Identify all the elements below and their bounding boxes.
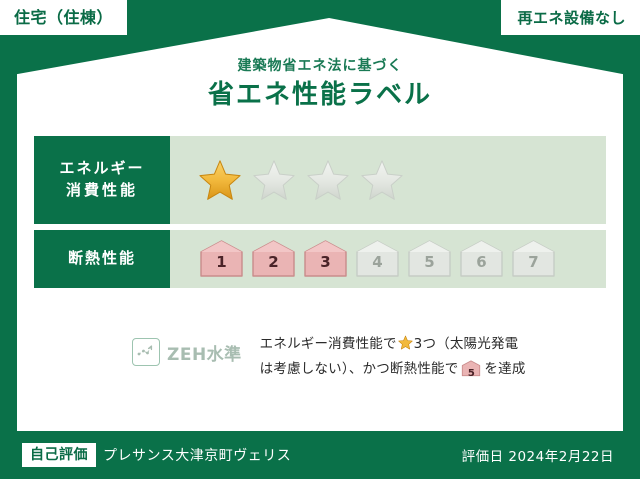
- insulation-grade-3-number: 3: [320, 255, 330, 279]
- house-badge-inline-number: 5: [468, 368, 475, 379]
- label-title-block: 建築物省エネ法に基づく 省エネ性能ラベル: [0, 58, 640, 111]
- insulation-grade-scale: 1 2 3: [198, 239, 562, 279]
- insulation-grade-6: 6: [458, 239, 505, 279]
- insulation-grade-4-number: 4: [372, 255, 382, 279]
- insulation-grade-1: 1: [198, 239, 245, 279]
- house-badge-icon-inline: 5: [460, 360, 482, 375]
- row-insulation-grades: 1 2 3: [170, 230, 606, 288]
- insulation-grade-3: 3: [302, 239, 349, 279]
- star-icon-inline: [398, 335, 413, 350]
- insulation-grade-4: 4: [354, 239, 401, 279]
- insulation-grade-5: 5: [406, 239, 453, 279]
- insulation-grade-2: 2: [250, 239, 297, 279]
- row-insulation-performance: 断熱性能 1: [34, 230, 606, 288]
- tag-renewable-energy-text: 再エネ設備なし: [517, 9, 626, 27]
- tag-building-type: 住宅（住棟）: [0, 0, 127, 35]
- tag-building-type-text: 住宅（住棟）: [14, 8, 113, 27]
- star-icon-empty-2: [252, 159, 296, 201]
- zeh-note-block: ZEH水準 エネルギー消費性能で3つ（太陽光発電 は考慮しない）、かつ断熱性能で…: [34, 330, 606, 382]
- row-energy-label-line1: エネルギー: [59, 158, 144, 180]
- label-subtitle: 建築物省エネ法に基づく: [0, 58, 640, 75]
- insulation-grade-2-number: 2: [268, 255, 278, 279]
- star-icon-filled-1: [198, 159, 242, 201]
- tag-renewable-energy: 再エネ設備なし: [501, 0, 640, 35]
- star-icon-empty-3: [306, 159, 350, 201]
- row-energy-performance: エネルギー 消費性能: [34, 136, 606, 224]
- evaluation-date: 評価日 2024年2月22日: [462, 445, 614, 465]
- row-energy-stars: [170, 136, 606, 224]
- zeh-chart-icon: [132, 338, 160, 366]
- row-energy-label-line2: 消費性能: [66, 180, 138, 202]
- insulation-grade-6-number: 6: [476, 255, 486, 279]
- insulation-grade-5-number: 5: [424, 255, 434, 279]
- row-insulation-label-text: 断熱性能: [68, 248, 136, 270]
- insulation-grade-7-number: 7: [528, 255, 538, 279]
- row-energy-label: エネルギー 消費性能: [34, 136, 170, 224]
- footer-left-group: 自己評価 プレサンス大津京町ヴェリス: [22, 443, 291, 467]
- row-insulation-label: 断熱性能: [34, 230, 170, 288]
- insulation-grade-1-number: 1: [216, 255, 226, 279]
- star-icon-empty-4: [360, 159, 404, 201]
- self-evaluation-badge: 自己評価: [22, 443, 96, 467]
- zeh-standard: ZEH水準: [34, 330, 242, 366]
- achievement-note: エネルギー消費性能で3つ（太陽光発電 は考慮しない）、かつ断熱性能で5を達成: [260, 330, 526, 382]
- metric-rows: エネルギー 消費性能: [34, 136, 606, 288]
- insulation-grade-7: 7: [510, 239, 557, 279]
- label-footer: 自己評価 プレサンス大津京町ヴェリス 評価日 2024年2月22日: [0, 431, 640, 479]
- achievement-note-line2-a: は考慮しない）、かつ断熱性能で: [260, 361, 459, 377]
- achievement-note-line2-b: を達成: [484, 361, 525, 377]
- zeh-standard-label: ZEH水準: [167, 340, 242, 365]
- label-title: 省エネ性能ラベル: [0, 79, 640, 112]
- building-name: プレサンス大津京町ヴェリス: [103, 445, 291, 465]
- energy-performance-label: 住宅（住棟） 再エネ設備なし 建築物省エネ法に基づく 省エネ性能ラベル エネルギ…: [0, 0, 640, 479]
- achievement-note-line1-b: 3つ（太陽光発電: [414, 336, 519, 352]
- achievement-note-line1-a: エネルギー消費性能で: [260, 336, 397, 352]
